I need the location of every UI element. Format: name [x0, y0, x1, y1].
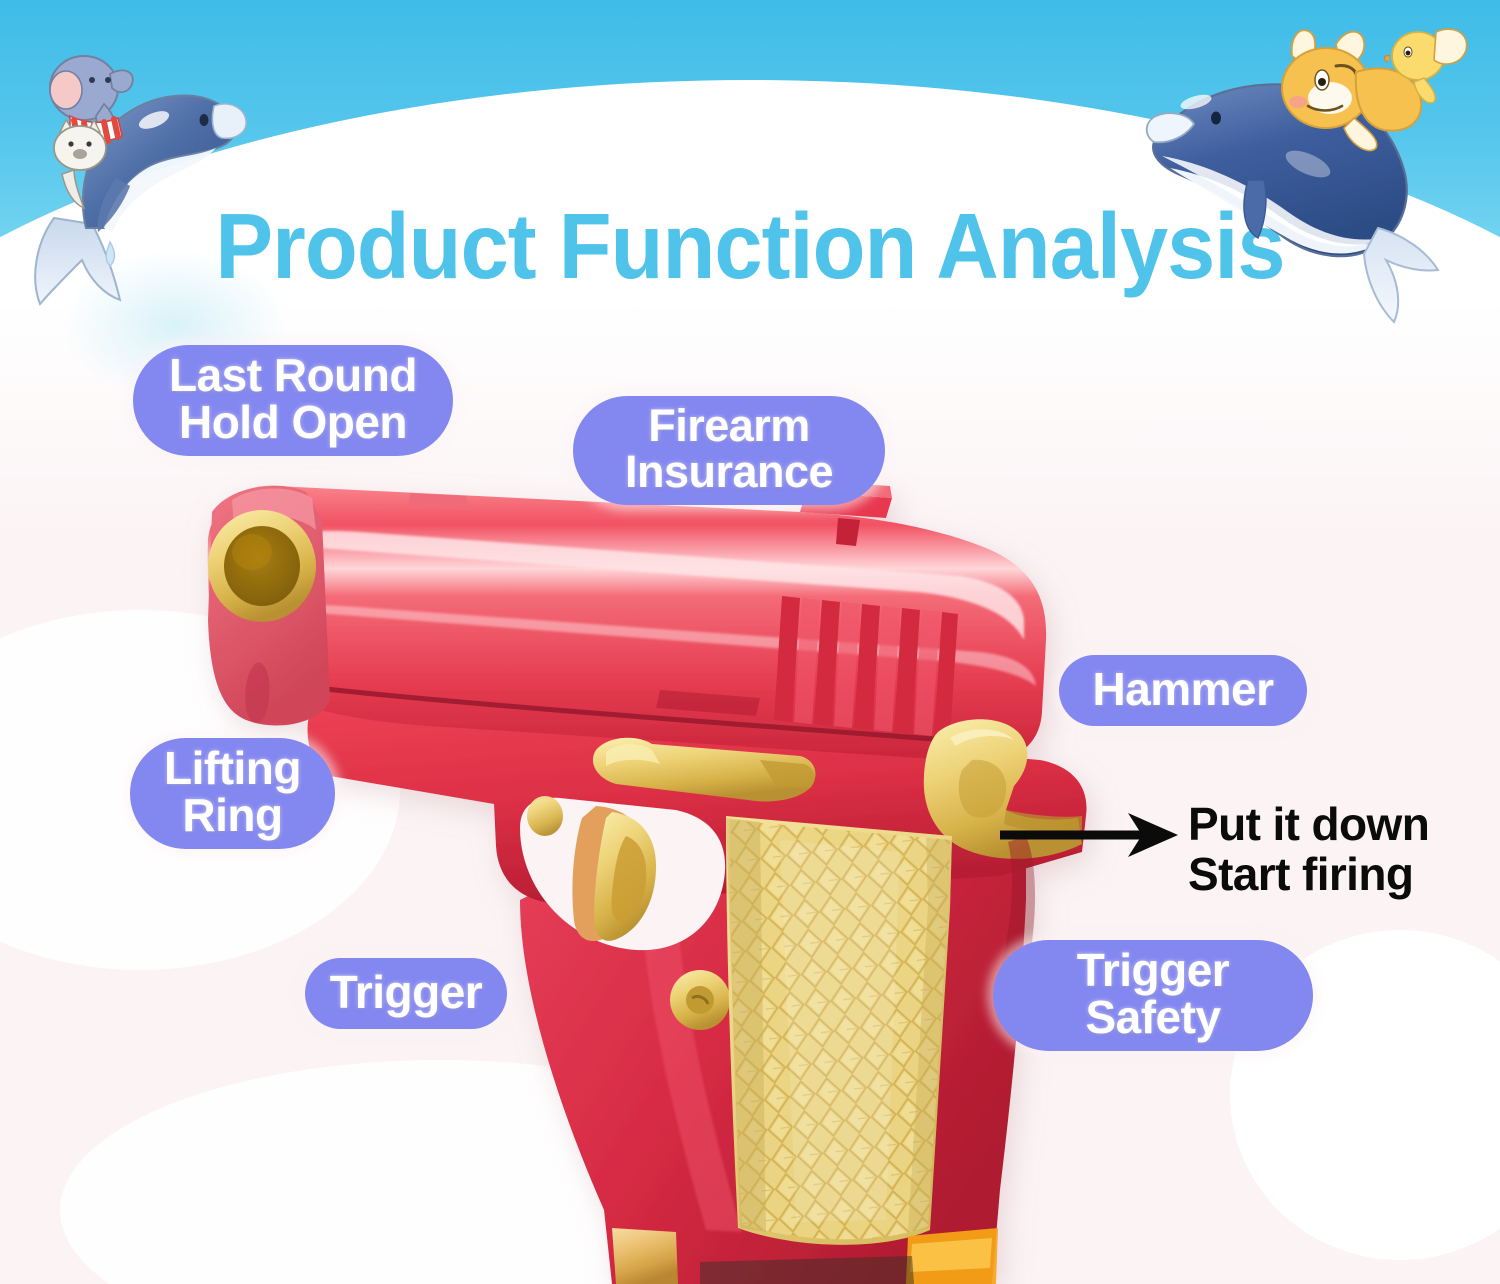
product-toy-pistol — [0, 0, 1500, 1284]
right-arrow-icon — [1000, 805, 1190, 865]
magazine-release — [527, 796, 563, 836]
label-hammer: Hammer — [1059, 655, 1307, 726]
callout-put-it-down-start-firing: Put it down Start firing — [1188, 800, 1429, 899]
infographic-canvas: Product Function Analysis — [0, 0, 1500, 1284]
label-lifting-ring: Lifting Ring — [130, 738, 335, 849]
label-firearm-insurance: Firearm Insurance — [573, 396, 885, 505]
gun-grip-panel — [726, 816, 952, 1245]
label-trigger: Trigger — [305, 958, 507, 1029]
slide-serrations — [774, 596, 958, 738]
label-last-round-hold-open: Last Round Hold Open — [133, 345, 453, 456]
label-trigger-safety: Trigger Safety — [993, 940, 1313, 1051]
gun-muzzle — [208, 486, 330, 726]
grip-screw — [670, 970, 730, 1030]
